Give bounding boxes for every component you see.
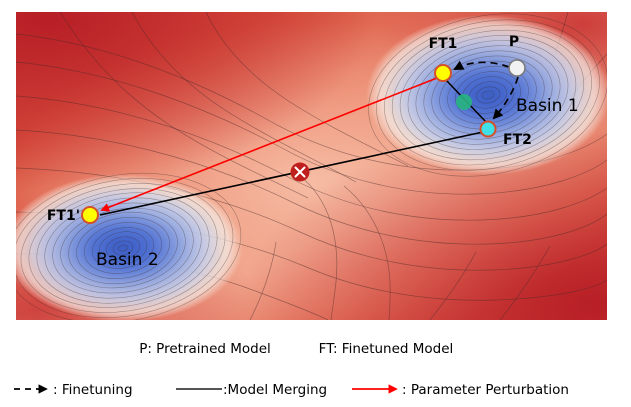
contour-plot: FT1 P FT2 FT1' Basin 1 Basin 2 [0,0,623,341]
point-ft1-prime [82,207,98,223]
caption-p-definition: P: Pretrained Model [139,341,271,357]
point-pretrained [509,60,525,76]
legend-item-parameter-perturbation: : Parameter Perturbation [352,382,569,398]
label-point-p: P [509,34,519,50]
caption-ft-definition: FT: Finetuned Model [319,341,454,357]
label-point-ft1: FT1 [429,36,458,52]
point-ft2 [481,122,496,137]
point-ft1 [435,65,451,81]
point-merged-model [456,94,472,110]
caption: P: Pretrained Model FT: Finetuned Model [139,341,453,357]
point-merge-failure [291,163,310,182]
label-basin-1: Basin 1 [516,96,579,116]
legend-label-model-merging: :Model Merging [223,382,327,398]
label-point-ft2: FT2 [503,132,532,148]
label-basin-2: Basin 2 [96,250,159,270]
legend-label-parameter-perturbation: : Parameter Perturbation [402,382,569,398]
legend-label-finetuning: : Finetuning [53,382,133,398]
legend: : Finetuning :Model Merging : Parameter … [14,382,569,398]
legend-item-model-merging: :Model Merging [176,382,327,398]
loss-landscape-figure: FT1 P FT2 FT1' Basin 1 Basin 2 P: Pretra… [0,0,631,407]
legend-item-finetuning: : Finetuning [14,382,133,398]
label-point-ft1-prime: FT1' [47,208,80,224]
